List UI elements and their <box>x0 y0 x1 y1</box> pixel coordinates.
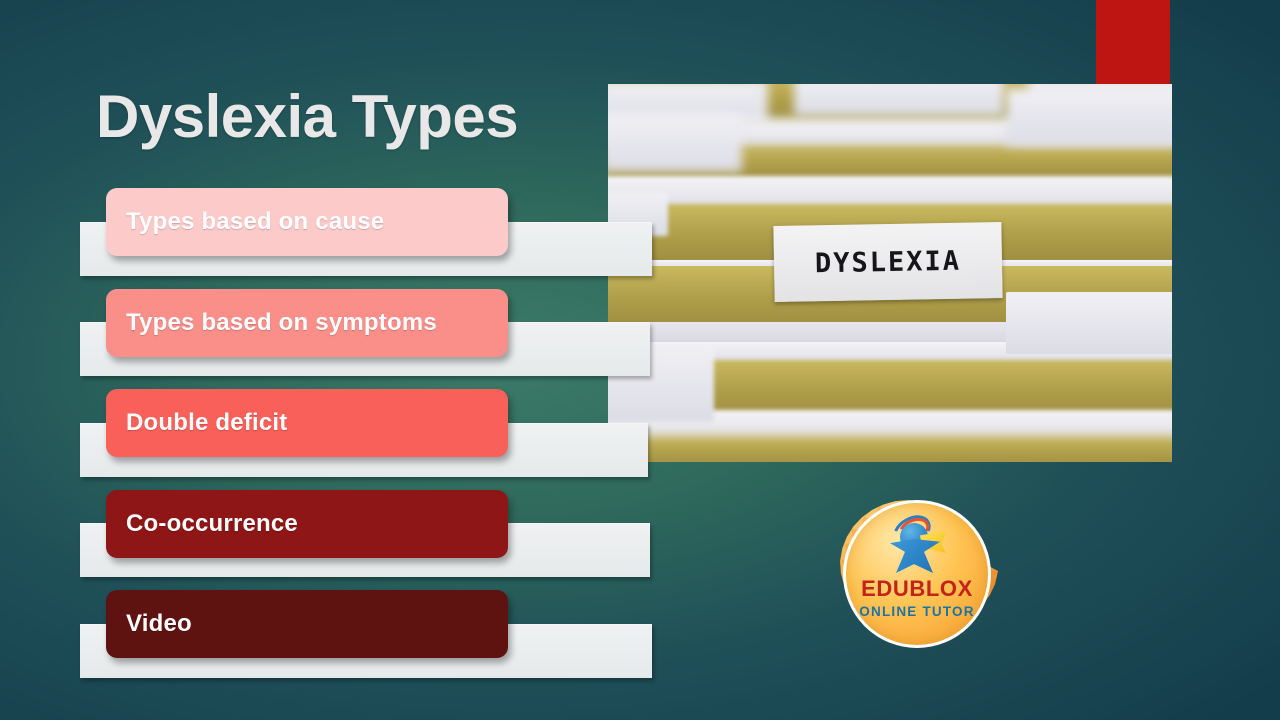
pill-label: Types based on cause <box>106 208 384 236</box>
pill-video[interactable]: Video <box>106 590 508 658</box>
logo-name: EDUBLOX <box>861 578 973 600</box>
pill-double-deficit[interactable]: Double deficit <box>106 389 508 457</box>
body-icon <box>890 539 940 573</box>
pill-label: Double deficit <box>106 409 287 437</box>
pill-label: Types based on symptoms <box>106 309 437 337</box>
person-star-icon <box>886 517 948 573</box>
accent-bar-top-right <box>1096 0 1170 84</box>
dyslexia-folders-photo: DYSLEXIA <box>608 84 1172 462</box>
logo-ring: EDUBLOX ONLINE TUTOR <box>843 500 991 648</box>
logo-tagline: ONLINE TUTOR <box>859 605 974 619</box>
pill-types-based-on-cause[interactable]: Types based on cause <box>106 188 508 256</box>
page-title: Dyslexia Types <box>96 82 518 151</box>
logo-inner: EDUBLOX ONLINE TUTOR <box>846 503 988 645</box>
pill-label: Video <box>106 610 192 638</box>
pill-types-based-on-symptoms[interactable]: Types based on symptoms <box>106 289 508 357</box>
pill-co-occurrence[interactable]: Co-occurrence <box>106 490 508 558</box>
folder-label-tag: DYSLEXIA <box>773 222 1002 302</box>
pill-label: Co-occurrence <box>106 510 298 538</box>
folder-label-text: DYSLEXIA <box>815 245 962 279</box>
edublox-logo[interactable]: EDUBLOX ONLINE TUTOR <box>830 487 998 655</box>
slide-canvas: Dyslexia Types <box>0 0 1280 720</box>
